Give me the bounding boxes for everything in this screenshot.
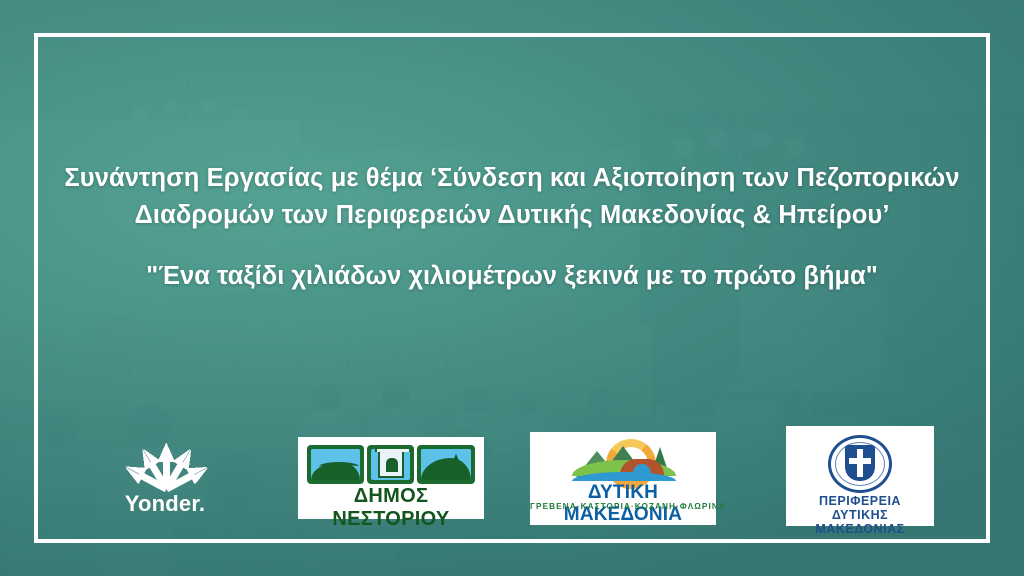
poster-quote: "Ένα ταξίδι χιλιάδων χιλιομέτρων ξεκινά …	[62, 258, 962, 294]
logo-perifereia[interactable]: ΠΕΡΙΦΕΡΕΙΑ ΔΥΤΙΚΗΣ ΜΑΚΕΔΟΝΙΑΣ	[786, 426, 934, 526]
yonder-wordmark: Yonder.	[90, 491, 240, 517]
logo-yonder[interactable]: Yonder.	[90, 429, 240, 529]
mountain-landscape-icon	[572, 437, 676, 481]
logo-dytiki-makedonia[interactable]: ΔΥΤΙΚΗ ΜΑΚΕΔΟΝΙΑ ΓΡΕΒΕΝΑ·ΚΑΣΤΟΡΙΑ·ΚΟΖΑΝΗ…	[530, 432, 716, 525]
poster-canvas: Συνάντηση Εργασίας με θέμα ‘Σύνδεση και …	[0, 0, 1024, 576]
nestorio-wordmark: ΔΗΜΟΣ ΝΕΣΤΟΡΙΟΥ	[298, 485, 484, 531]
greek-coat-of-arms-icon	[828, 435, 892, 493]
logo-row: Yonder. ΔΗΜΟΣ ΝΕΣΤΟΡΙΟΥ ΔΥΤΙΚΗ ΜΑΚΕΔΟΝ	[34, 420, 990, 535]
nestorio-triptych-icon	[307, 445, 475, 484]
dytiki-makedonia-subtitle: ΓΡΕΒΕΝΑ·ΚΑΣΤΟΡΙΑ·ΚΟΖΑΝΗ·ΦΛΩΡΙΝΑ	[530, 502, 716, 511]
perifereia-line1: ΠΕΡΙΦΕΡΕΙΑ	[786, 494, 934, 508]
logo-nestorio[interactable]: ΔΗΜΟΣ ΝΕΣΤΟΡΙΟΥ	[298, 437, 484, 519]
poster-headline: Συνάντηση Εργασίας με θέμα ‘Σύνδεση και …	[62, 160, 962, 234]
perifereia-line2: ΔΥΤΙΚΗΣ ΜΑΚΕΔΟΝΙΑΣ	[786, 508, 934, 536]
yonder-sunburst-icon	[116, 429, 216, 491]
